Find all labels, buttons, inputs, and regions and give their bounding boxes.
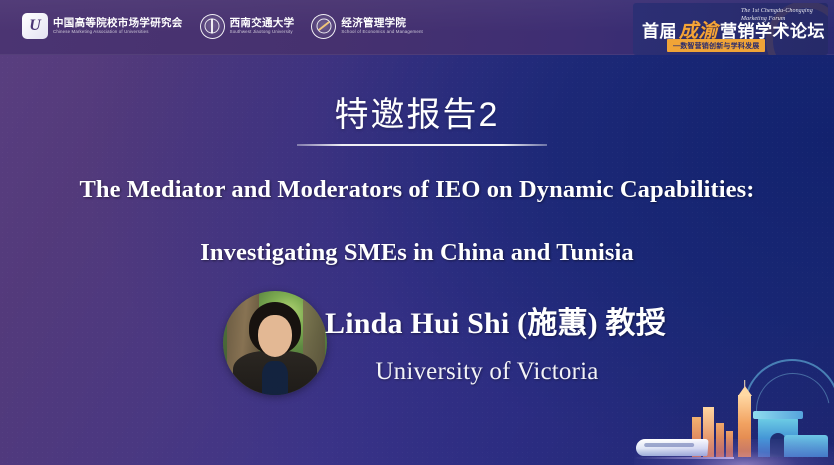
sem-logo-icon — [311, 14, 336, 39]
forum-badge-subtitle: —数智营销创新与学科发展 — [667, 39, 765, 52]
logo-sem-text: 经济管理学院 School of Economics and Managemen… — [341, 17, 423, 35]
forum-badge: The 1st Chengdu-Chongqing Marketing Foru… — [633, 3, 828, 55]
session-kicker: 特邀报告2 — [0, 98, 834, 134]
talk-title-line-1: The Mediator and Moderators of IEO on Dy… — [0, 176, 834, 204]
swjtu-seal-icon — [200, 14, 225, 39]
logo-swjtu: 西南交通大学 Southwest Jiaotong University — [200, 14, 295, 39]
logo-sem: 经济管理学院 School of Economics and Managemen… — [311, 14, 423, 39]
logo-sem-en: School of Economics and Management — [341, 29, 423, 35]
logo-swjtu-text: 西南交通大学 Southwest Jiaotong University — [230, 17, 295, 35]
organizer-logos: U 中国高等院校市场学研究会 Chinese Marketing Associa… — [22, 13, 423, 39]
skyline-glow — [634, 439, 834, 465]
logo-swjtu-cn: 西南交通大学 — [230, 17, 295, 29]
logo-sem-cn: 经济管理学院 — [341, 17, 423, 29]
logo-cmau-en: Chinese Marketing Association of Univers… — [53, 29, 183, 35]
cmau-logo-icon: U — [22, 13, 48, 39]
speaker-name: Linda Hui Shi (施蕙) 教授 — [325, 298, 666, 342]
talk-title-line-2: Investigating SMEs in China and Tunisia — [0, 239, 834, 267]
chengdu-chongqing-skyline — [634, 375, 834, 465]
presentation-slide: U 中国高等院校市场学研究会 Chinese Marketing Associa… — [0, 0, 834, 465]
logo-cmau: U 中国高等院校市场学研究会 Chinese Marketing Associa… — [22, 13, 183, 39]
logo-cmau-text: 中国高等院校市场学研究会 Chinese Marketing Associati… — [53, 17, 183, 35]
kicker-underline — [297, 144, 547, 146]
logo-swjtu-en: Southwest Jiaotong University — [230, 29, 295, 35]
logo-cmau-cn: 中国高等院校市场学研究会 — [53, 17, 183, 29]
portrait-face — [258, 315, 292, 357]
